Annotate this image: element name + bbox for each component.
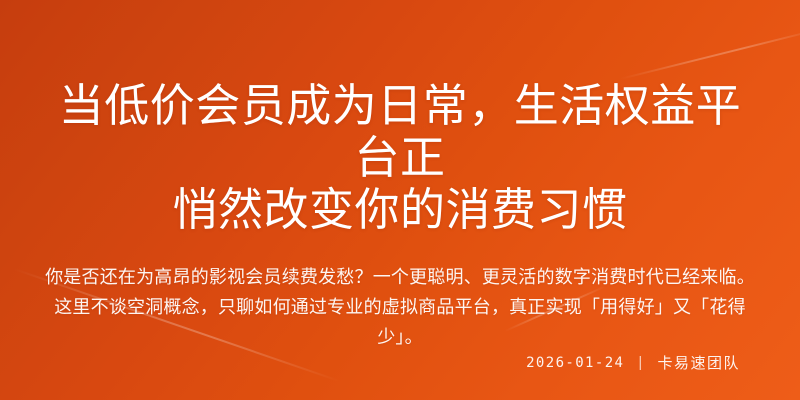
banner-subtitle: 你是否还在为高昂的影视会员续费发愁？一个更聪明、更灵活的数字消费时代已经来临。这… <box>38 236 762 352</box>
author-name: 卡易速团队 <box>657 352 740 373</box>
footer-separator: | <box>638 355 643 370</box>
publish-date: 2026-01-24 <box>526 355 624 371</box>
banner-content: 当低价会员成为日常，生活权益平台正 悄然改变你的消费习惯 你是否还在为高昂的影视… <box>0 0 800 400</box>
banner-footer: 2026-01-24 | 卡易速团队 <box>38 352 762 400</box>
banner-title: 当低价会员成为日常，生活权益平台正 悄然改变你的消费习惯 <box>38 0 762 236</box>
promo-banner: 当低价会员成为日常，生活权益平台正 悄然改变你的消费习惯 你是否还在为高昂的影视… <box>0 0 800 400</box>
